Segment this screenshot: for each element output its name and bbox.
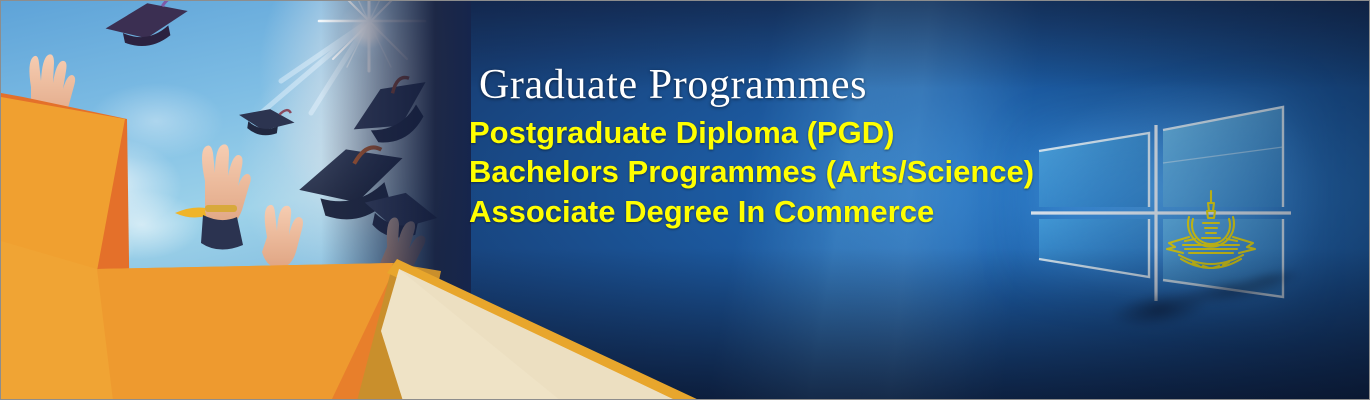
page-title: Graduate Programmes bbox=[479, 63, 1029, 107]
programme-item-1: Postgraduate Diploma (PGD) bbox=[469, 113, 1029, 152]
banner-text-block: Graduate Programmes Postgraduate Diploma… bbox=[469, 63, 1029, 231]
programme-item-2: Bachelors Programmes (Arts/Science) bbox=[469, 152, 1029, 191]
graduate-programmes-banner: Graduate Programmes Postgraduate Diploma… bbox=[0, 0, 1370, 400]
programme-item-3: Associate Degree In Commerce bbox=[469, 192, 1029, 231]
